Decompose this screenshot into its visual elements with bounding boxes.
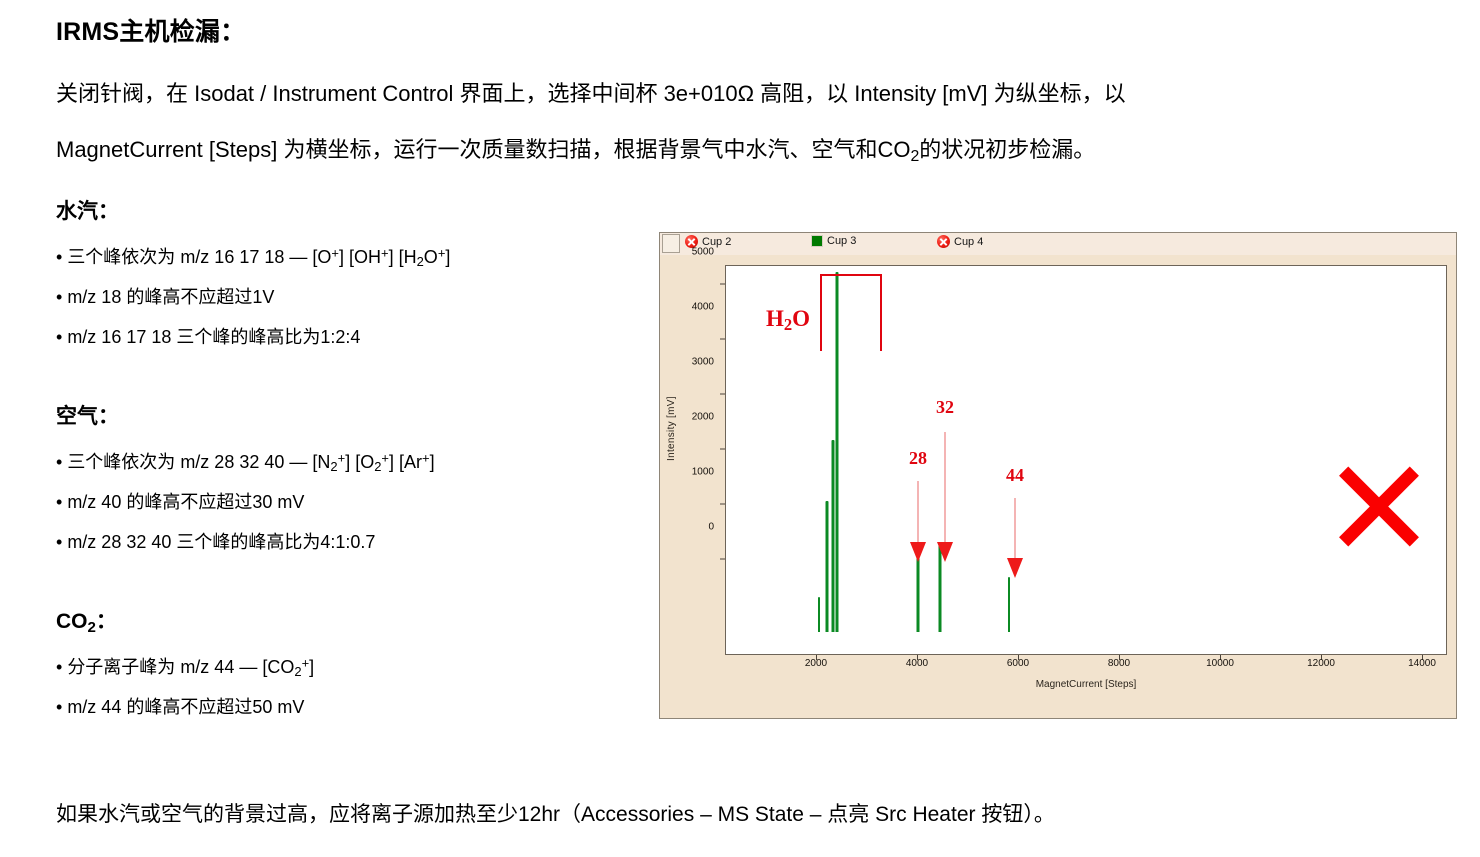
bullet-dot: • — [56, 657, 62, 677]
y-tick-label: 2000 — [692, 412, 714, 423]
mz-32-arrow-shaft — [945, 432, 946, 545]
mz-32-arrowhead — [937, 542, 953, 562]
x-tick-label: 10000 — [1206, 658, 1234, 669]
y-tick-label: 4000 — [692, 302, 714, 313]
x-tick-label: 4000 — [906, 658, 928, 669]
mz-28-arrow-shaft — [918, 481, 919, 546]
bullet-dot: • — [56, 492, 62, 512]
bullet-text: ] — [445, 247, 450, 267]
mz-44-arrowhead — [1007, 558, 1023, 578]
mz-44-label: 44 — [1006, 465, 1024, 486]
section-heading-air: 空气： — [56, 400, 119, 430]
bullet-dot: • — [56, 697, 62, 717]
section-heading-water: 水汽： — [56, 195, 119, 225]
mz-44-arrow-shaft — [1015, 498, 1016, 562]
color-swatch-icon — [811, 235, 823, 247]
list-item: •m/z 16 17 18 三个峰的峰高比为1:2:4 — [56, 323, 360, 349]
disabled-cup-icon — [937, 235, 950, 248]
list-item: •三个峰依次为 m/z 28 32 40 — [N2+] [O2+] [Ar+] — [56, 448, 435, 474]
mass-scan-chart-panel: Cup 2 Cup 3 Cup 4 0 1000 2000 3000 4000 … — [659, 232, 1457, 719]
intro-line2-subscript: 2 — [910, 148, 919, 165]
plot-inner: H2O 28 32 44 — [726, 266, 1446, 654]
x-tick-label: 8000 — [1108, 658, 1130, 669]
y-axis-title: Intensity [mV] — [666, 396, 677, 461]
peak-mz-16 — [818, 597, 820, 632]
list-item: •分子离子峰为 m/z 44 — [CO2+] — [56, 653, 314, 679]
legend-label-cup-4: Cup 4 — [954, 236, 983, 248]
peak-mz-18-shoulder — [831, 440, 834, 632]
bullet-text: ] — [430, 452, 435, 472]
intro-paragraph-line1: 关闭针阀，在 Isodat / Instrument Control 界面上，选… — [56, 72, 1126, 116]
co2-heading-colon: ： — [96, 610, 117, 633]
bullet-text: m/z 40 的峰高不应超过30 mV — [67, 492, 304, 512]
intro-line2-part-a: MagnetCurrent [Steps] 为横坐标，运行一次质量数扫描，根据背… — [56, 137, 910, 162]
h2o-label: H2O — [766, 306, 810, 335]
bullet-text: 三个峰依次为 m/z 16 17 18 — [O — [67, 247, 331, 267]
bullet-dot: • — [56, 532, 62, 552]
h2o-label-o: O — [792, 306, 810, 331]
x-axis-tick-labels: 2000 4000 6000 8000 10000 12000 14000 — [725, 658, 1447, 674]
bullet-text: ] [O — [345, 452, 374, 472]
bullet-text: 分子离子峰为 m/z 44 — [CO — [67, 657, 294, 677]
big-red-x-icon — [1329, 464, 1429, 552]
superscript: + — [381, 451, 389, 466]
mz-28-label: 28 — [909, 448, 927, 469]
chart-legend-bar: Cup 2 Cup 3 Cup 4 — [660, 233, 1456, 255]
intro-line2-part-b: 的状况初步检漏。 — [919, 137, 1095, 162]
legend-item-cup-4[interactable]: Cup 4 — [937, 235, 983, 248]
list-item: •m/z 18 的峰高不应超过1V — [56, 283, 274, 309]
h2o-bracket — [820, 274, 882, 351]
peak-mz-17 — [825, 501, 828, 632]
y-tick-label: 1000 — [692, 467, 714, 478]
section-heading-co2: CO2： — [56, 605, 117, 636]
co2-heading-text: CO — [56, 610, 88, 633]
y-axis-tick-labels: 0 1000 2000 3000 4000 5000 — [660, 233, 724, 718]
superscript: + — [422, 451, 430, 466]
bullet-text: O — [424, 247, 438, 267]
legend-label-cup-3: Cup 3 — [827, 235, 856, 247]
footer-paragraph: 如果水汽或空气的背景过高，应将离子源加热至少12hr（Accessories –… — [56, 793, 1055, 837]
y-tick-label: 3000 — [692, 357, 714, 368]
x-axis-title: MagnetCurrent [Steps] — [725, 679, 1447, 690]
subscript: 2 — [88, 619, 96, 636]
list-item: •三个峰依次为 m/z 16 17 18 — [O+] [OH+] [H2O+] — [56, 243, 450, 269]
y-tick-label: 5000 — [692, 247, 714, 258]
superscript: + — [302, 656, 310, 671]
x-tick-label: 2000 — [805, 658, 827, 669]
subscript: 2 — [294, 664, 301, 679]
mz-28-arrowhead — [910, 542, 926, 562]
plot-area: H2O 28 32 44 — [725, 265, 1447, 655]
bullet-dot: • — [56, 247, 62, 267]
subscript: 2 — [784, 315, 792, 334]
intro-paragraph-line2: MagnetCurrent [Steps] 为横坐标，运行一次质量数扫描，根据背… — [56, 128, 1095, 179]
subscript: 2 — [330, 459, 337, 474]
page-title: IRMS主机检漏： — [56, 12, 245, 48]
mz-32-label: 32 — [936, 397, 954, 418]
legend-item-cup-3[interactable]: Cup 3 — [811, 235, 856, 247]
list-item: •m/z 40 的峰高不应超过30 mV — [56, 488, 304, 514]
bullet-dot: • — [56, 327, 62, 347]
x-tick-label: 6000 — [1007, 658, 1029, 669]
bullet-text: ] [H — [389, 247, 417, 267]
h2o-label-h: H — [766, 306, 784, 331]
bullet-text: m/z 44 的峰高不应超过50 mV — [67, 697, 304, 717]
list-item: •m/z 44 的峰高不应超过50 mV — [56, 693, 304, 719]
x-tick-label: 12000 — [1307, 658, 1335, 669]
x-tick-label: 14000 — [1408, 658, 1436, 669]
bullet-text: ] [Ar — [389, 452, 422, 472]
bullet-dot: • — [56, 287, 62, 307]
bullet-dot: • — [56, 452, 62, 472]
superscript: + — [331, 246, 339, 261]
superscript: + — [381, 246, 389, 261]
bullet-text: m/z 16 17 18 三个峰的峰高比为1:2:4 — [67, 327, 360, 347]
bullet-text: 三个峰依次为 m/z 28 32 40 — [N — [67, 452, 330, 472]
bullet-text: ] [OH — [339, 247, 381, 267]
bullet-text: ] — [309, 657, 314, 677]
subscript: 2 — [417, 254, 424, 269]
document-body: IRMS主机检漏： 关闭针阀，在 Isodat / Instrument Con… — [0, 0, 1480, 857]
y-tick-label: 0 — [708, 522, 714, 533]
bullet-text: m/z 28 32 40 三个峰的峰高比为4:1:0.7 — [67, 532, 375, 552]
bullet-text: m/z 18 的峰高不应超过1V — [67, 287, 274, 307]
peak-mz-44 — [1008, 577, 1010, 632]
list-item: •m/z 28 32 40 三个峰的峰高比为4:1:0.7 — [56, 528, 375, 554]
